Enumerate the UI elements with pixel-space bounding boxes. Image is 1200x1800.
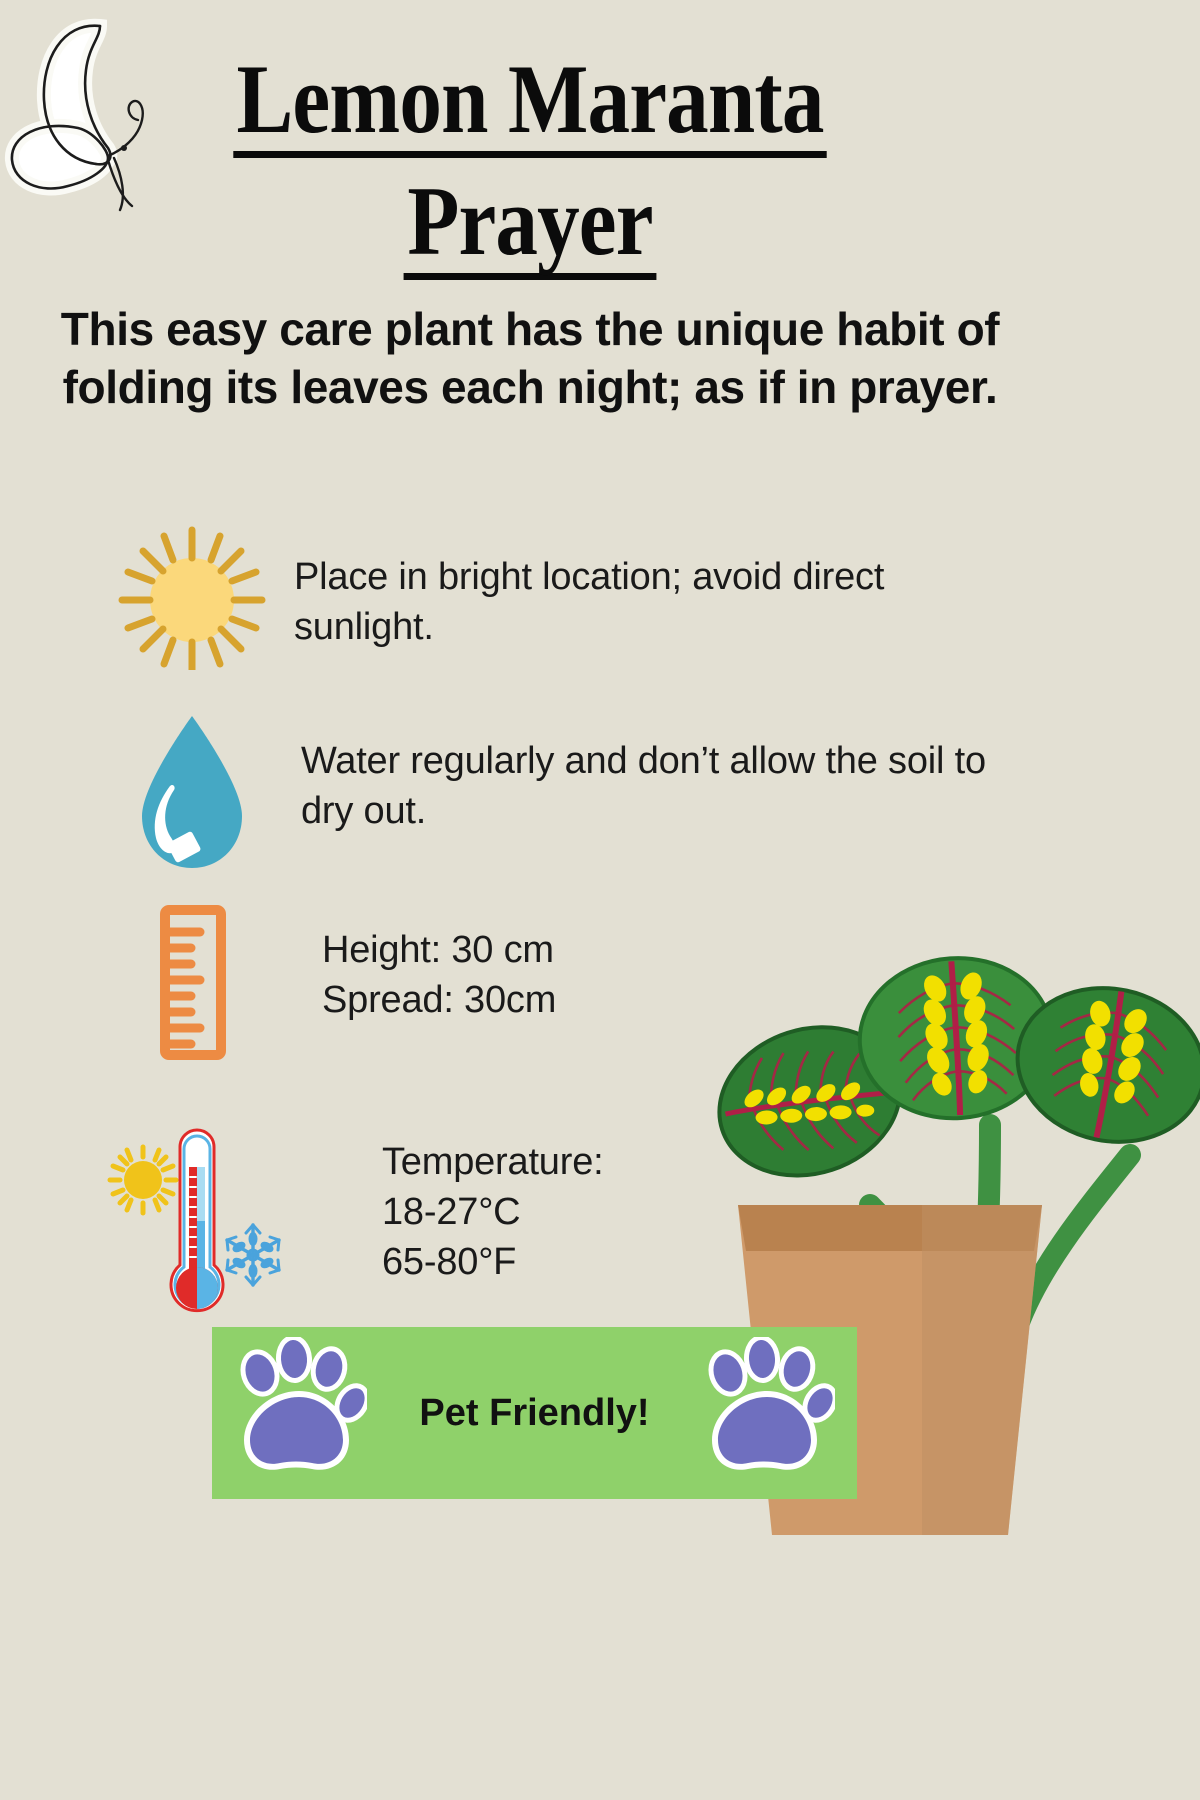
sun-icon bbox=[110, 1147, 176, 1213]
care-row-size: Height: 30 cm Spread: 30cm bbox=[160, 905, 1020, 1065]
paw-print-icon bbox=[232, 1337, 367, 1477]
care-text-water: Water regularly and don’t allow the soil… bbox=[301, 736, 990, 836]
poster-canvas: Lemon Maranta Prayer This easy care plan… bbox=[0, 0, 1200, 1800]
care-row-light: Place in bright location; avoid direct s… bbox=[112, 520, 972, 675]
title-line-1: Lemon Maranta bbox=[233, 52, 827, 158]
water-drop-icon bbox=[130, 710, 255, 875]
care-row-temperature: Temperature: 18-27°C 65-80°F bbox=[105, 1125, 965, 1325]
snowflake-icon bbox=[227, 1225, 279, 1285]
ruler-icon bbox=[160, 905, 226, 1060]
title-line-2: Prayer bbox=[404, 174, 656, 280]
paw-print-icon bbox=[700, 1337, 835, 1477]
sun-icon bbox=[112, 520, 272, 670]
care-text-light: Place in bright location; avoid direct s… bbox=[294, 552, 972, 652]
thermometer-icon bbox=[105, 1125, 290, 1320]
care-row-water: Water regularly and don’t allow the soil… bbox=[130, 710, 990, 880]
care-text-size: Height: 30 cm Spread: 30cm bbox=[322, 925, 962, 1025]
poster-title: Lemon Maranta Prayer bbox=[0, 52, 1060, 280]
care-text-temperature: Temperature: 18-27°C 65-80°F bbox=[382, 1137, 965, 1287]
poster-subtitle: This easy care plant has the unique habi… bbox=[60, 300, 1000, 417]
